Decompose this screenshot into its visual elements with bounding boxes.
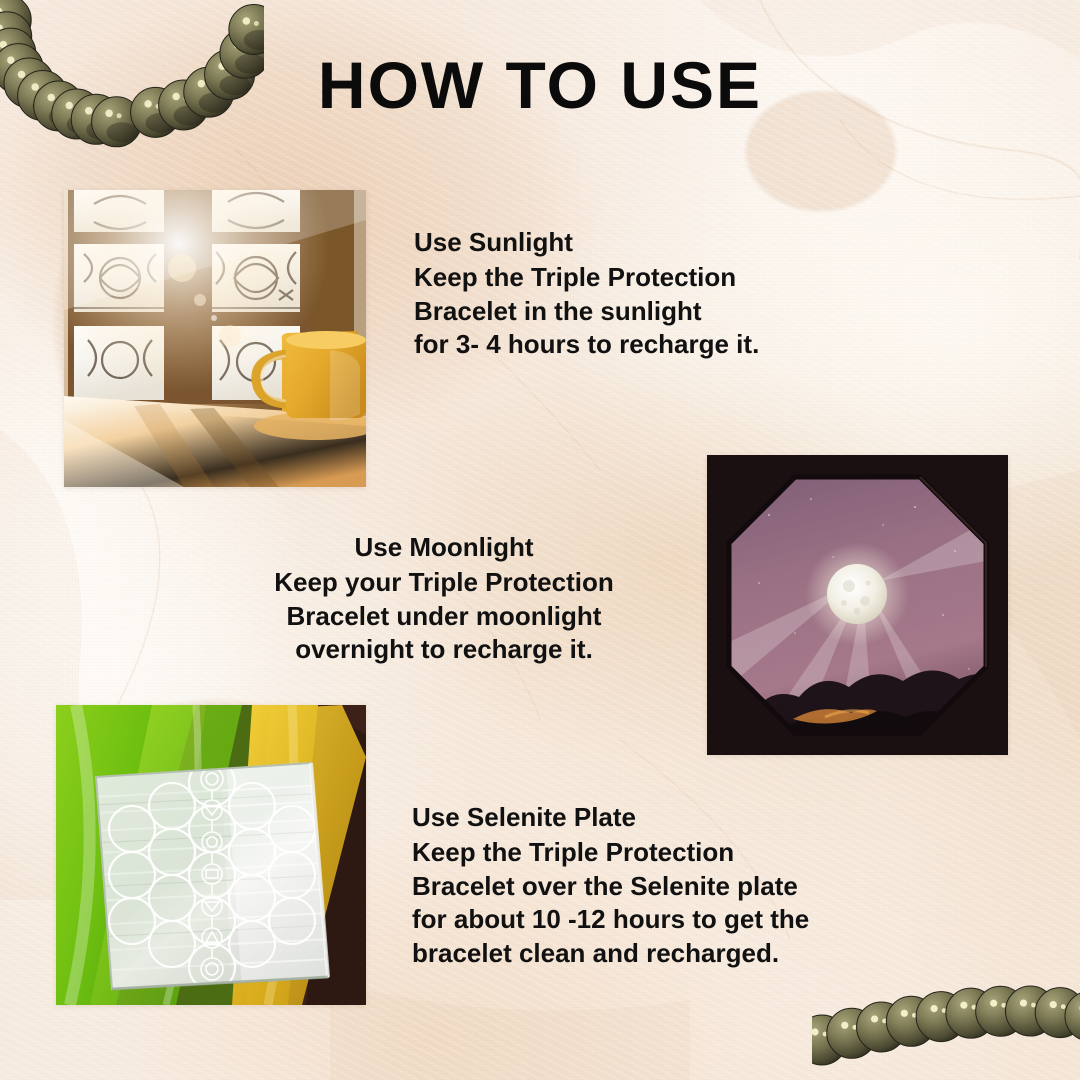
step-sunlight-heading: Use Sunlight bbox=[414, 226, 759, 260]
step-moonlight-text: Use Moonlight Keep your Triple Protectio… bbox=[214, 531, 674, 667]
selenite-plate-flower-of-life-photo bbox=[56, 705, 366, 1005]
pyrite-bead-bracelet-top-left bbox=[0, 0, 264, 176]
step-selenite-line-3: for about 10 -12 hours to get the bbox=[412, 903, 809, 937]
step-selenite-line-1: Keep the Triple Protection bbox=[412, 836, 809, 870]
pyrite-bead-bracelet-bottom-right bbox=[812, 962, 1080, 1080]
step-selenite-heading: Use Selenite Plate bbox=[412, 801, 809, 835]
step-selenite-line-2: Bracelet over the Selenite plate bbox=[412, 870, 809, 904]
step-selenite-text: Use Selenite Plate Keep the Triple Prote… bbox=[412, 801, 809, 971]
octagonal-window-full-moon-photo bbox=[707, 455, 1008, 755]
step-sunlight-text: Use Sunlight Keep the Triple Protection … bbox=[414, 226, 759, 362]
step-selenite-line-4: bracelet clean and recharged. bbox=[412, 937, 809, 971]
step-sunlight-body: Keep the Triple Protection Bracelet in t… bbox=[414, 261, 759, 362]
step-moonlight-heading: Use Moonlight bbox=[214, 531, 674, 565]
how-to-use-poster: HOW TO USE bbox=[0, 0, 1080, 1080]
step-selenite-body: Keep the Triple Protection Bracelet over… bbox=[412, 836, 809, 971]
sunlit-window-with-mug-photo bbox=[64, 190, 366, 487]
step-moonlight-body: Keep your Triple Protection Bracelet und… bbox=[214, 566, 674, 667]
step-moonlight-line-3: overnight to recharge it. bbox=[214, 633, 674, 667]
step-sunlight-line-3: for 3- 4 hours to recharge it. bbox=[414, 328, 759, 362]
step-sunlight-line-1: Keep the Triple Protection bbox=[414, 261, 759, 295]
step-moonlight-line-2: Bracelet under moonlight bbox=[214, 600, 674, 634]
step-sunlight-line-2: Bracelet in the sunlight bbox=[414, 295, 759, 329]
step-moonlight-line-1: Keep your Triple Protection bbox=[214, 566, 674, 600]
